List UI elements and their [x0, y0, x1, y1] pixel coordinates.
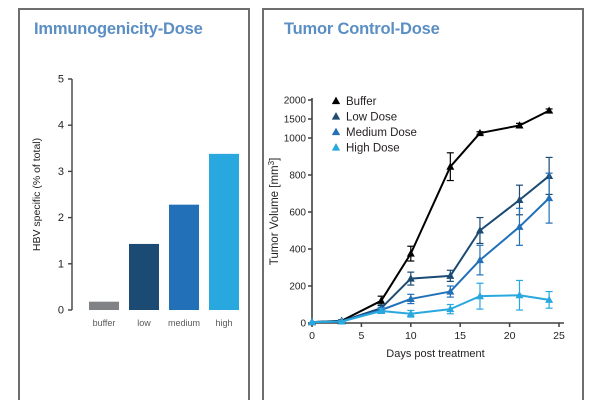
line-y-tick-label: 1500 — [284, 115, 307, 126]
svg-text:Tumor Volume [mm3]: Tumor Volume [mm3] — [267, 158, 282, 266]
bar-y-tick-label: 5 — [58, 74, 64, 86]
bar-y-tick-label: 3 — [58, 166, 64, 178]
bar-low — [129, 244, 159, 310]
bar-category-label-low: low — [137, 318, 151, 328]
figure-root: Immunogenicity-Dose 012345HBV specific (… — [0, 0, 601, 408]
line-y-tick-label: 400 — [289, 245, 306, 256]
panel-title-tumor-control: Tumor Control-Dose — [284, 20, 440, 39]
legend-marker-buffer — [332, 97, 340, 105]
legend-label-buffer: Buffer — [346, 96, 377, 108]
line-y-axis-title: Tumor Volume [mm3] — [267, 158, 282, 266]
legend-label-medium-dose: Medium Dose — [346, 127, 417, 139]
bar-y-tick-label: 1 — [58, 258, 64, 270]
line-y-tick-label: 600 — [289, 208, 306, 219]
bar-y-tick-label: 0 — [58, 305, 64, 317]
bar-category-label-buffer: buffer — [93, 318, 116, 328]
data-point-buffer — [545, 106, 553, 113]
bar-y-tick-label: 2 — [58, 212, 64, 224]
bar-category-label-medium: medium — [168, 318, 200, 328]
line-x-tick-label: 25 — [553, 330, 565, 342]
legend-label-low-dose: Low Dose — [346, 112, 397, 124]
line-x-axis-title: Days post treatment — [386, 348, 484, 360]
bar-buffer — [89, 302, 119, 310]
panel-tumor-control: Tumor Control-Dose 020040060080010001500… — [262, 8, 584, 400]
panel-title-immunogenicity: Immunogenicity-Dose — [34, 20, 203, 39]
line-y-tick-label: 800 — [289, 171, 306, 182]
line-y-tick-label: 0 — [300, 319, 306, 330]
data-point-buffer — [407, 249, 415, 256]
line-x-tick-label: 5 — [358, 330, 364, 342]
bar-category-label-high: high — [215, 318, 232, 328]
bar-medium — [169, 205, 199, 310]
series-line-medium-dose — [312, 198, 549, 322]
legend-marker-low-dose — [332, 112, 340, 120]
line-x-tick-label: 0 — [309, 330, 315, 342]
line-y-tick-label: 200 — [289, 282, 306, 293]
bar-y-tick-label: 4 — [58, 120, 64, 132]
bar-chart-immunogenicity: 012345HBV specific (% of total)bufferlow… — [20, 62, 252, 362]
panel-immunogenicity: Immunogenicity-Dose 012345HBV specific (… — [18, 8, 250, 400]
bar-y-axis-title: HBV specific (% of total) — [31, 138, 43, 251]
line-chart-tumor-control: 02004006008001000150020000510152025Days … — [264, 60, 586, 390]
legend-label-high-dose: High Dose — [346, 143, 400, 155]
legend-marker-medium-dose — [332, 128, 340, 136]
line-x-tick-label: 15 — [454, 330, 466, 342]
line-y-tick-label: 2000 — [284, 96, 307, 107]
line-y-tick-label: 1000 — [284, 134, 307, 145]
legend-marker-high-dose — [332, 143, 340, 151]
line-x-tick-label: 10 — [405, 330, 417, 342]
bar-high — [209, 154, 239, 310]
series-line-low-dose — [312, 176, 549, 322]
line-x-tick-label: 20 — [504, 330, 516, 342]
